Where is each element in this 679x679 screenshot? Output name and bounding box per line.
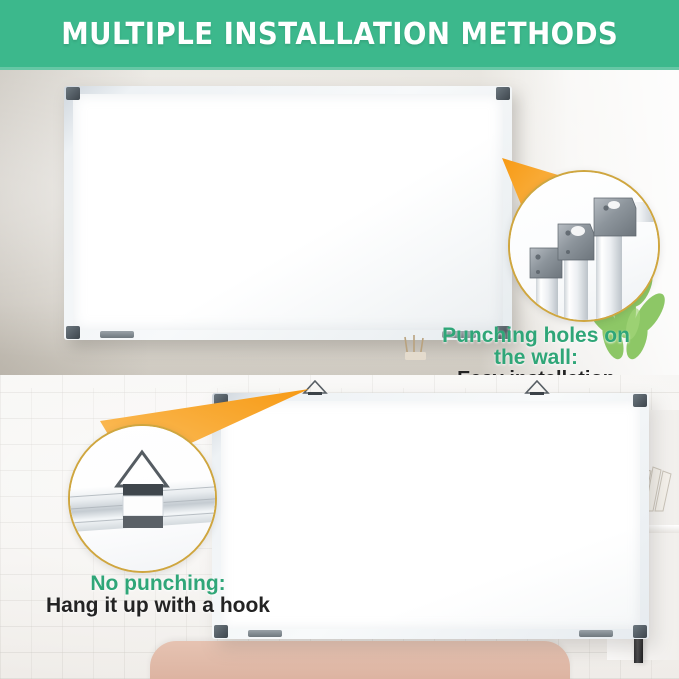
pen-tray-clip: [579, 630, 613, 637]
caption-black-line: Hang it up with a hook: [8, 595, 308, 617]
header-banner: MULTIPLE INSTALLATION METHODS: [0, 0, 679, 70]
section-no-punching: No punching: Hang it up with a hook: [0, 375, 679, 679]
whiteboard-writing-surface: [73, 94, 503, 330]
caption-no-punching: No punching: Hang it up with a hook: [8, 573, 308, 618]
frame-corner-cap-icon: [66, 326, 80, 339]
pen-tray-clip: [248, 630, 282, 637]
caption-black-line: Easy installation: [395, 369, 677, 375]
callout-circle-hook: [68, 424, 217, 573]
section-punching-holes: Punching holes on the wall: Easy install…: [0, 70, 679, 375]
pen-tray-clip: [100, 331, 134, 338]
caption-green-line: No punching:: [8, 573, 308, 595]
callout-photo-hook: [70, 426, 215, 571]
caption-green-line: Punching holes on: [395, 325, 677, 347]
whiteboard-top: [64, 86, 512, 340]
frame-corner-cap-icon: [633, 625, 647, 638]
frame-corner-cap-icon: [214, 625, 228, 638]
page-title: MULTIPLE INSTALLATION METHODS: [61, 20, 618, 50]
frame-corner-cap-icon: [66, 87, 80, 100]
frame-corner-cap-icon: [633, 394, 647, 407]
callout-photo-fixing-kits: [510, 172, 658, 320]
sofa: [150, 641, 570, 679]
caption-punching-holes: Punching holes on the wall: Easy install…: [395, 325, 677, 375]
caption-green-line: the wall:: [395, 347, 677, 369]
product-infographic: MULTIPLE INSTALLATION METHODS: [0, 0, 679, 679]
frame-corner-cap-icon: [496, 87, 510, 100]
triangle-hanger-icon: [524, 380, 550, 395]
callout-circle-fixing-kits: [508, 170, 660, 322]
